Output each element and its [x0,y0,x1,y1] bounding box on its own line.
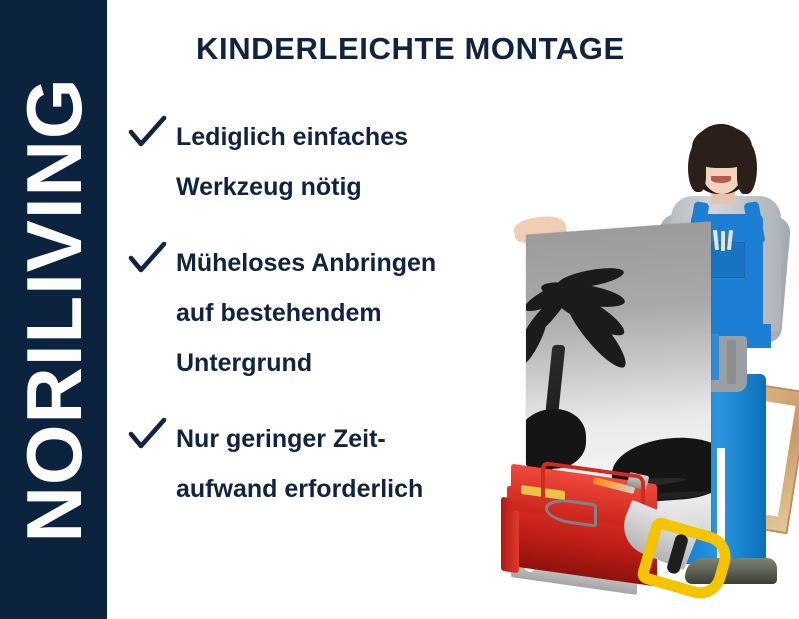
pouch-tool [727,340,736,384]
page-title: KINDERLEICHTE MONTAGE [196,31,625,67]
check-icon [128,115,168,149]
list-item-line: Lediglich einfaches [176,112,518,162]
product-photo [495,118,799,619]
feature-list: Lediglich einfaches Werkzeug nötig Mühel… [128,112,518,514]
brand-sidebar: NORILIVING [0,0,107,619]
mouth [711,176,731,183]
list-item-line: Untergrund [176,338,518,388]
pencil [713,230,719,250]
pencil [721,231,725,251]
palm-crown [526,257,686,401]
brand-name: NORILIVING [15,77,93,542]
check-icon [128,417,168,451]
list-item-line: auf bestehendem [176,288,518,338]
list-item-line: Nur geringer Zeit- [176,414,518,464]
hair-side-right [737,142,757,194]
list-item-text: Lediglich einfaches Werkzeug nötig [176,112,518,212]
shoe-right [723,558,777,584]
hair-side-left [688,144,706,192]
list-item: Müheloses Anbringen auf bestehendem Unte… [128,238,518,388]
list-item-line: aufwand erforderlich [176,464,518,514]
check-icon [128,241,168,275]
pencils [714,230,736,252]
list-item-text: Nur geringer Zeit- aufwand erforderlich [176,414,518,514]
list-item-text: Müheloses Anbringen auf bestehendem Unte… [176,238,518,388]
pencil [727,230,733,250]
list-item: Lediglich einfaches Werkzeug nötig [128,112,518,212]
list-item-line: Werkzeug nötig [176,162,518,212]
list-item-line: Müheloses Anbringen [176,238,518,288]
hand-saw [621,510,713,582]
list-item: Nur geringer Zeit- aufwand erforderlich [128,414,518,514]
promo-banner: NORILIVING KINDERLEICHTE MONTAGE Ledigli… [0,0,799,619]
